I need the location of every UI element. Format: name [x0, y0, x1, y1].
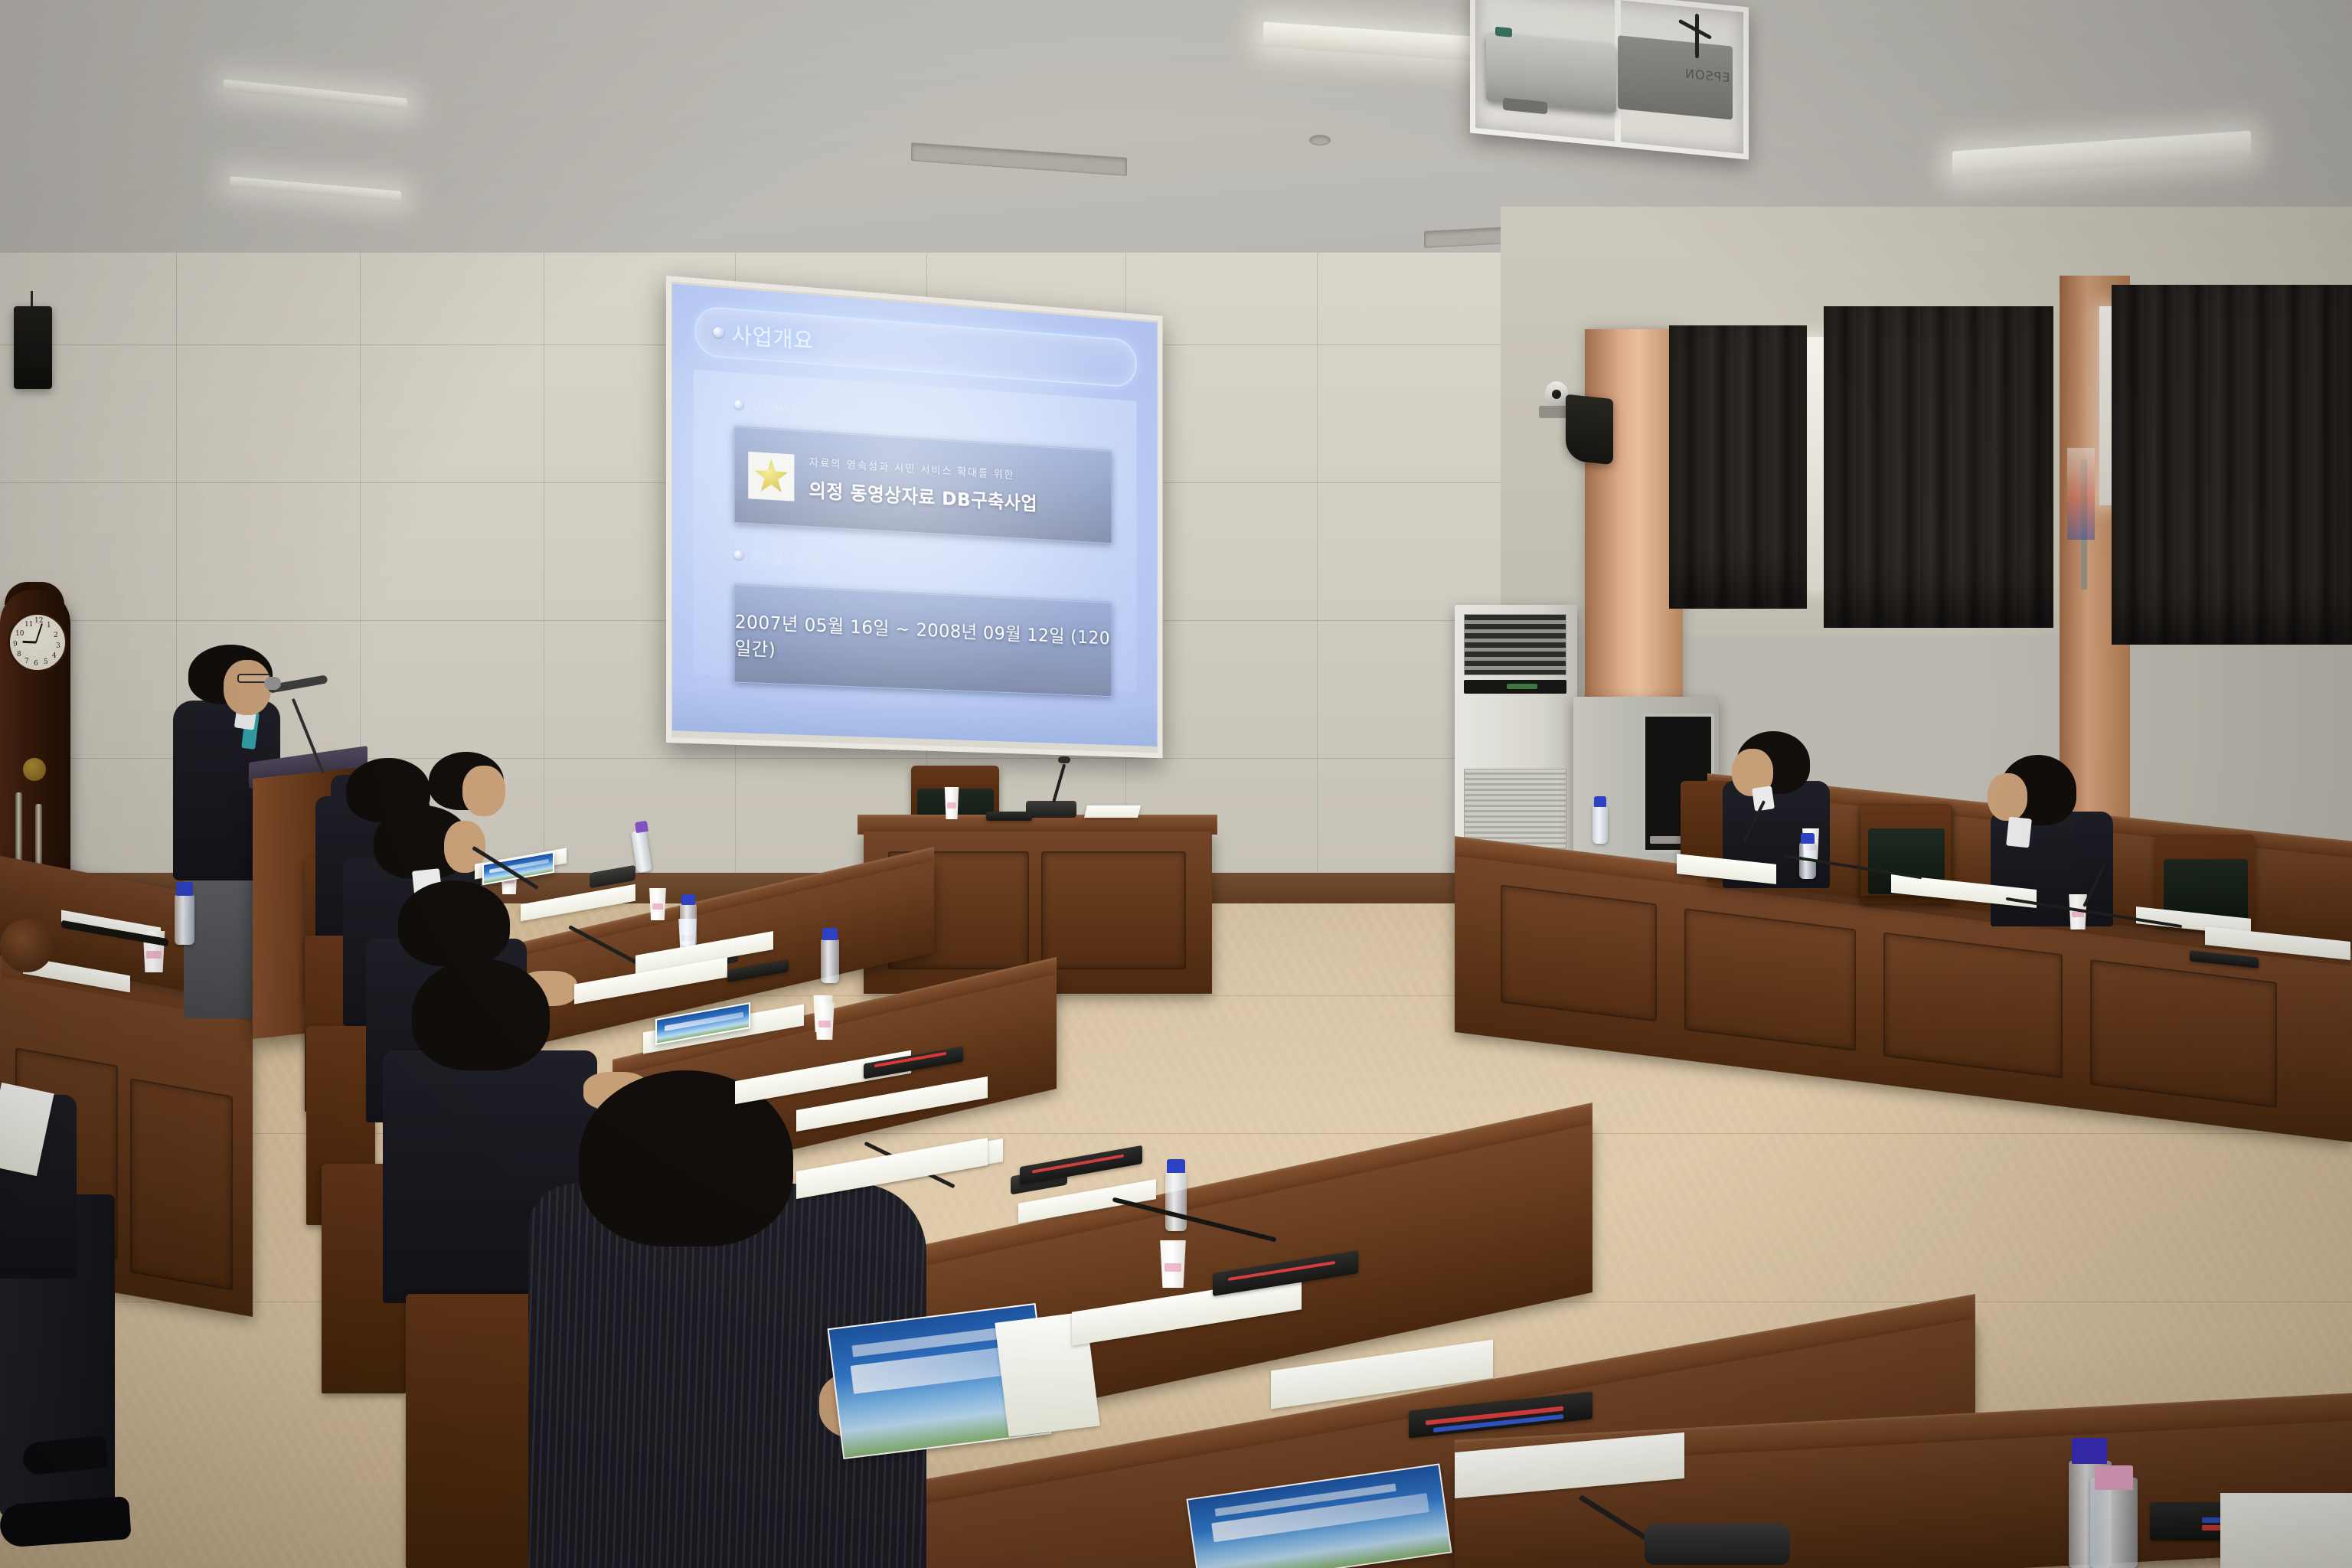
- pen-tray[interactable]: [986, 812, 1032, 821]
- paper-cup[interactable]: [648, 888, 668, 920]
- bottle-cap: [2095, 1465, 2133, 1490]
- ac-display-panel: [1464, 680, 1566, 694]
- water-bottle[interactable]: [680, 903, 697, 946]
- paper-cup[interactable]: [1158, 1240, 1188, 1288]
- ceiling-projector-recess: EPSON: [1470, 0, 1749, 160]
- section-label-project-period: 사업기간: [751, 544, 828, 572]
- clock-numeral: 1: [47, 622, 51, 629]
- bottle-cap: [1594, 796, 1606, 807]
- attendee-hair: [412, 959, 550, 1070]
- shoe: [0, 1496, 132, 1548]
- clock-minute-hand: [35, 623, 43, 642]
- window-drape: [1824, 306, 2053, 628]
- booklet-title-band: [665, 1012, 743, 1031]
- desk-panel: [1041, 851, 1186, 969]
- government-emblem-icon: [748, 452, 794, 501]
- attendee-face: [1988, 773, 2027, 821]
- projection-screen: 사업개요 사업명 자료의 영속성과 시민 서비스 확대를 위한 의정 동영상자료: [666, 276, 1163, 758]
- bottle-cap: [176, 882, 193, 896]
- water-bottle[interactable]: [1165, 1171, 1187, 1231]
- table-panel: [1684, 908, 1856, 1051]
- bottle-cap: [1801, 833, 1815, 844]
- attendee-shirt-collar: [2006, 817, 2032, 848]
- cabinet-panel: [130, 1078, 233, 1291]
- table-panel: [1501, 884, 1657, 1021]
- clock-numeral: 7: [24, 658, 29, 665]
- podium-microphone-head-icon: [264, 677, 281, 690]
- slide-body: 사업명 자료의 영속성과 시민 서비스 확대를 위한 의정 동영상자료 DB구축…: [694, 370, 1137, 692]
- flag: [2067, 448, 2095, 540]
- project-period-value: 2007년 05월 16일 ~ 2008년 09월 12일 (120일간): [735, 606, 1112, 675]
- air-conditioner-unit: [1455, 605, 1577, 865]
- bullet-dot-icon: [713, 327, 724, 338]
- bottle-cap: [2072, 1438, 2107, 1464]
- projector-body: [1486, 33, 1616, 113]
- clock-numeral: 10: [15, 630, 24, 638]
- clock-face: 12 1 2 3 4 5 6 7 8 9 10 11: [8, 612, 67, 672]
- presentation-slide: 사업개요 사업명 자료의 영속성과 시민 서비스 확대를 위한 의정 동영상자료: [672, 284, 1157, 746]
- clock-numeral: 9: [13, 641, 18, 648]
- bullet-dot-icon: [734, 550, 744, 560]
- bottle-cap: [635, 821, 648, 833]
- section-label-project-name: 사업명: [751, 394, 809, 422]
- microphone-head-icon: [1058, 756, 1070, 763]
- window-light-slit: [1807, 337, 1824, 590]
- paper-cup[interactable]: [813, 1003, 836, 1040]
- attendee-shirt-collar: [1752, 786, 1775, 811]
- clock-numeral: 2: [54, 632, 58, 639]
- microphone-base: [1026, 801, 1076, 818]
- desk-papers: [1084, 805, 1141, 818]
- table-panel: [2090, 959, 2277, 1108]
- microphone-base: [1645, 1524, 1790, 1565]
- window-drape: [1669, 325, 1807, 609]
- scene-photograph: EPSON 사업개요: [0, 0, 2352, 1568]
- stool[interactable]: [0, 919, 54, 972]
- stacked-documents: [2220, 1493, 2352, 1568]
- wall-speaker-left-icon: [14, 306, 52, 389]
- bottle-cap: [1167, 1159, 1185, 1173]
- clock-numeral: 3: [56, 642, 60, 650]
- project-name-main: 의정 동영상자료 DB구축사업: [809, 475, 1037, 516]
- project-name-box: 자료의 영속성과 시민 서비스 확대를 위한 의정 동영상자료 DB구축사업: [734, 426, 1112, 544]
- water-bottle[interactable]: [1592, 805, 1608, 844]
- projector-cable: [1695, 14, 1699, 58]
- water-bottle[interactable]: [2090, 1478, 2138, 1568]
- attendee-hair: [398, 880, 510, 966]
- bottle-cap: [822, 928, 838, 940]
- clock-numeral: 6: [34, 660, 38, 668]
- bullet-dot-icon: [734, 400, 744, 410]
- water-bottle[interactable]: [821, 939, 839, 983]
- ptz-camera-icon: [1545, 381, 1568, 406]
- projector-lens-icon: [1503, 98, 1547, 115]
- table-panel: [1883, 933, 2063, 1079]
- bottle-cap: [681, 894, 695, 905]
- window-light-slit: [2099, 306, 2112, 505]
- clock-pendulum: [23, 758, 46, 781]
- wall-speaker-right-icon: [1566, 394, 1613, 465]
- ceiling-smoke-detector: [1309, 135, 1331, 145]
- ac-grille: [1464, 614, 1566, 675]
- clock-hour-hand: [22, 641, 36, 644]
- clock-numeral: 8: [17, 651, 21, 658]
- paper-cup[interactable]: [943, 787, 960, 819]
- window-drape: [2112, 285, 2352, 645]
- water-bottle[interactable]: [175, 894, 194, 945]
- slide-section-heading: 사업기간: [734, 543, 1116, 586]
- clock-numeral: 4: [52, 652, 57, 660]
- clock-numeral: 5: [44, 658, 48, 666]
- attendee-face: [462, 766, 505, 816]
- presenter-face: [224, 660, 271, 715]
- slide-title: 사업개요: [732, 318, 814, 356]
- clock-numeral: 11: [24, 621, 33, 629]
- project-period-box: 2007년 05월 16일 ~ 2008년 09월 12일 (120일간): [734, 583, 1112, 697]
